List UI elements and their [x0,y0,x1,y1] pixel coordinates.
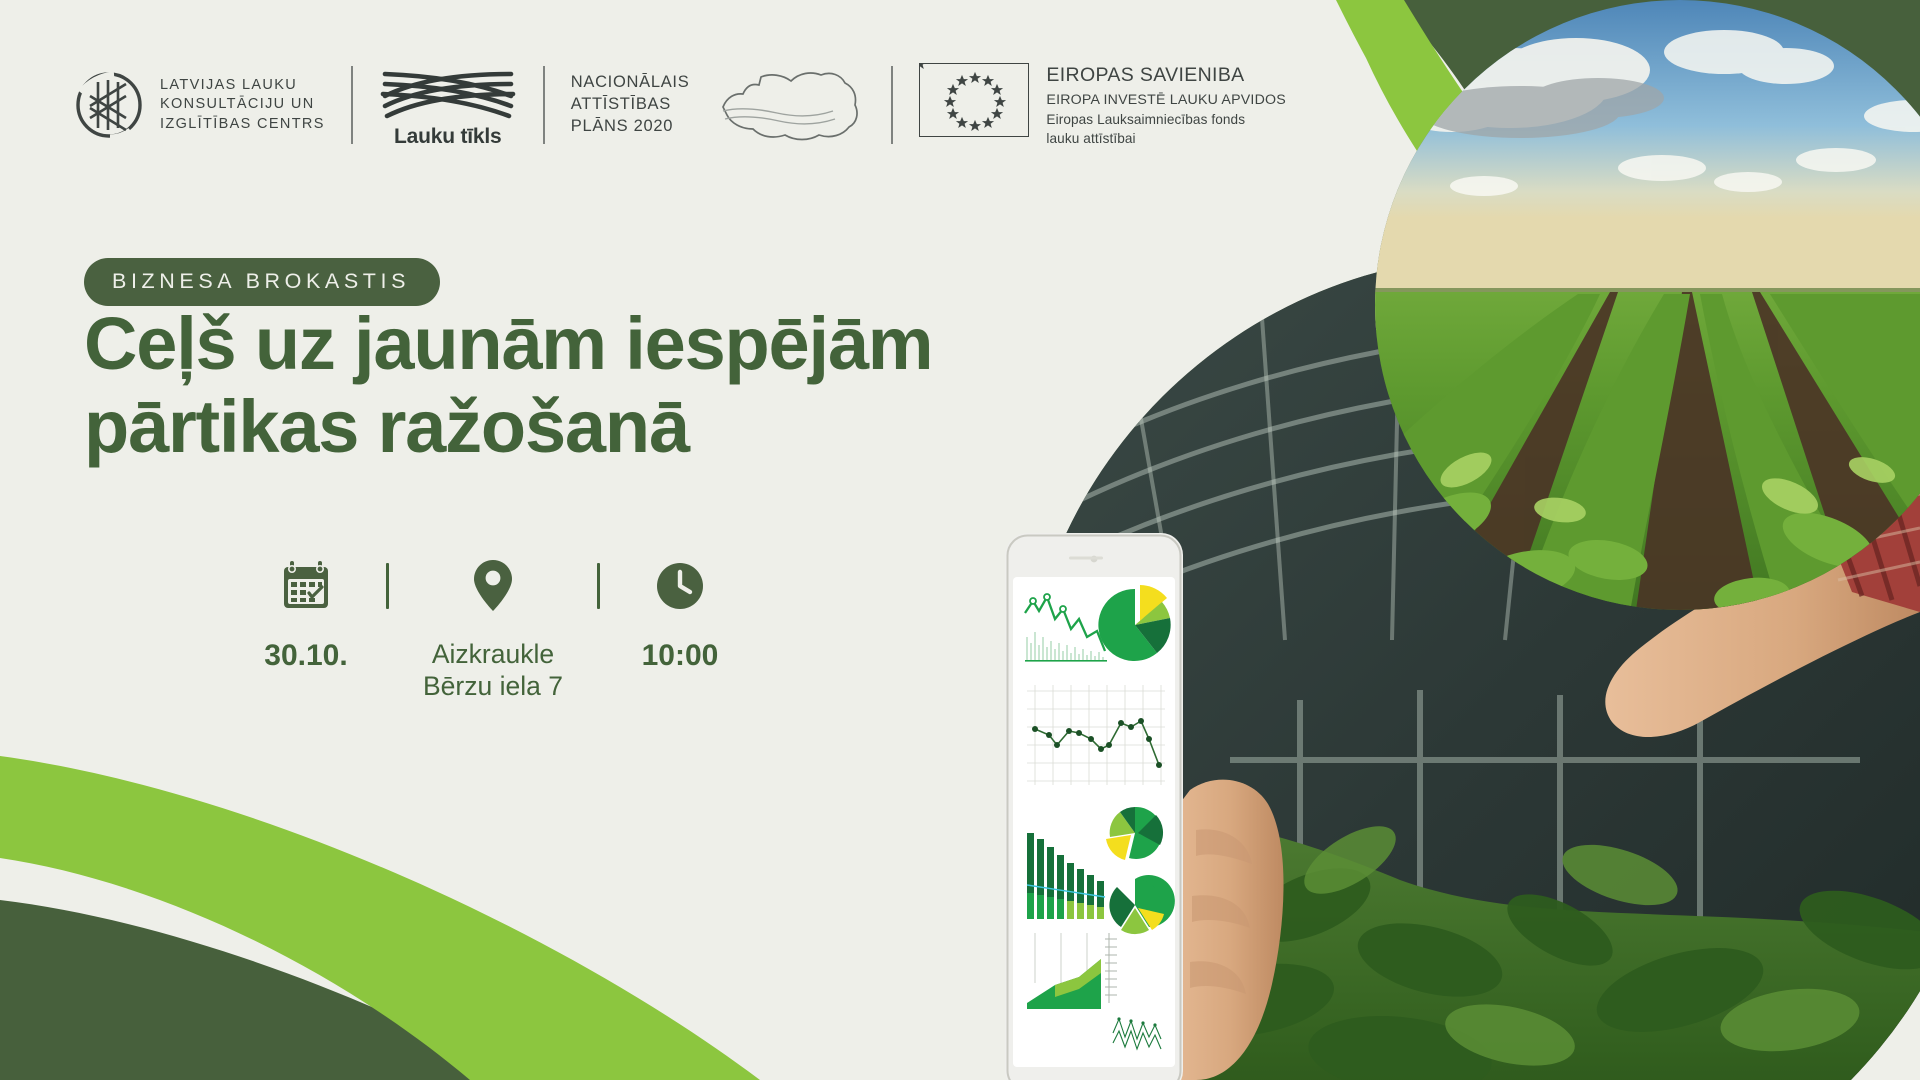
llkc-line-1: LATVIJAS LAUKU [160,76,325,95]
calendar-icon-wrap [278,560,334,612]
llkc-line-2: KONSULTĀCIJU UN [160,95,325,114]
detail-separator-2 [597,563,600,609]
smartphone-analytics-mock [1005,533,1183,1080]
event-detail-date: 30.10. [246,560,366,675]
event-detail-location: Aizkraukle Bērzu iela 7 [409,560,577,703]
event-category-badge: BIZNESA BROKASTIS [84,258,440,306]
clock-icon-wrap [655,560,705,612]
logo-llkc: LATVIJAS LAUKU KONSULTĀCIJU UN IZGLĪTĪBA… [74,70,325,140]
logo-nap2020: NACIONĀLAIS ATTĪSTĪBAS PLĀNS 2020 [571,63,866,147]
logo-divider-2 [543,66,545,144]
latvia-map-icon [715,63,865,147]
event-detail-time: 10:00 [620,560,740,675]
lauku-tikls-wordmark: Lauku tīkls [394,125,502,149]
event-category-label: BIZNESA BROKASTIS [112,271,410,293]
map-pin-icon [471,559,515,613]
eu-subtitle: EIROPA INVESTĒ LAUKU APVIDOS [1046,92,1286,109]
nap-line-2: ATTĪSTĪBAS [571,94,690,116]
logo-llkc-text: LATVIJAS LAUKU KONSULTĀCIJU UN IZGLĪTĪBA… [160,76,325,133]
eu-flag-icon [919,63,1029,137]
event-location-label: Aizkraukle Bērzu iela 7 [423,638,563,703]
calendar-icon [278,560,334,612]
event-location-address: Bērzu iela 7 [423,670,563,702]
clock-icon [655,561,705,611]
nap-text: NACIONĀLAIS ATTĪSTĪBAS PLĀNS 2020 [571,72,690,138]
logo-lauku-tikls: Lauku tīkls [379,62,517,149]
event-date-label: 30.10. [264,638,347,675]
logo-divider-3 [891,66,893,144]
logo-divider-1 [351,66,353,144]
nap-line-1: NACIONĀLAIS [571,72,690,94]
poster-canvas: LATVIJAS LAUKU KONSULTĀCIJU UN IZGLĪTĪBA… [0,0,1920,1080]
eu-fund-line-1: Eiropas Lauksaimniecības fonds [1046,111,1286,128]
event-time-label: 10:00 [642,638,719,675]
lauku-tikls-net-icon [379,62,517,124]
llkc-emblem-icon [74,70,144,140]
partner-logo-strip: LATVIJAS LAUKU KONSULTĀCIJU UN IZGLĪTĪBA… [74,55,1286,155]
eu-fund-line-2: lauku attīstībai [1046,130,1286,147]
eu-text-block: EIROPAS SAVIENIBA EIROPA INVESTĒ LAUKU A… [1046,63,1286,148]
page-title-line-2: pārtikas ražošanā [84,386,932,469]
detail-separator-1 [386,563,389,609]
page-title-line-1: Ceļš uz jaunām iespējām [84,303,932,386]
logo-european-union: EIROPAS SAVIENIBA EIROPA INVESTĒ LAUKU A… [919,63,1286,148]
page-title: Ceļš uz jaunām iespējām pārtikas ražošan… [84,303,932,469]
event-details-row: 30.10. Aizkraukle Bērzu iela 7 [246,560,740,703]
map-pin-icon-wrap [471,560,515,612]
background-decoration [0,0,1920,1080]
eu-title: EIROPAS SAVIENIBA [1046,64,1286,87]
llkc-line-3: IZGLĪTĪBAS CENTRS [160,115,325,134]
nap-line-3: PLĀNS 2020 [571,116,690,138]
event-location-city: Aizkraukle [423,638,563,670]
